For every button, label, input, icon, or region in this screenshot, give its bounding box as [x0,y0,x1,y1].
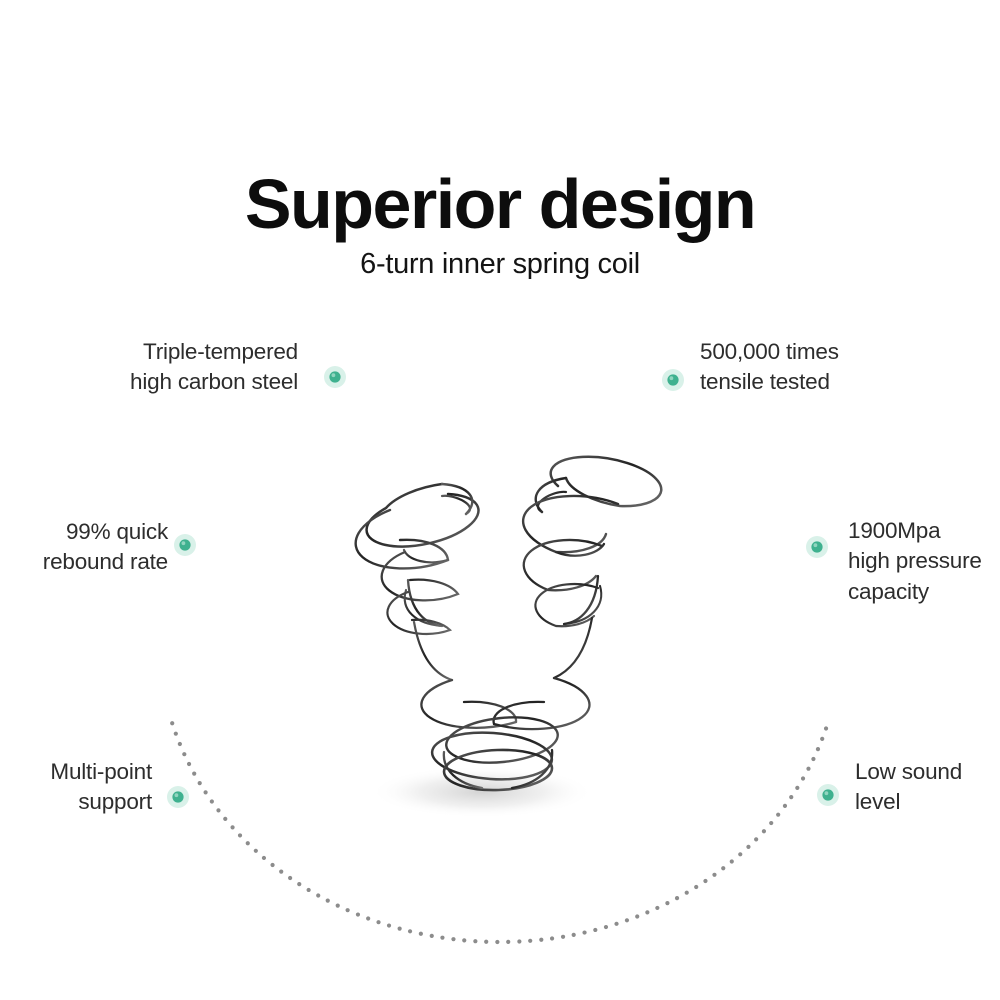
arc-dot [824,726,828,730]
pressure-capacity-marker[interactable] [806,536,828,558]
arc-dot [665,901,669,905]
arc-dot [178,742,182,746]
marker-highlight [175,793,179,797]
arc-dot [326,899,330,903]
arc-dot [170,721,174,725]
arc-dot [762,829,766,833]
arc-dot [238,833,242,837]
arc-dot [398,927,402,931]
arc-dot [288,876,292,880]
arc-dot [712,873,716,877]
arc-dot [506,940,510,944]
label-line: 500,000 times [700,337,960,367]
label-line: high pressure [848,546,998,576]
arc-dot [783,804,787,808]
arc-dot [174,732,178,736]
arc-dot [462,938,466,942]
arc-dot [495,940,499,944]
arc-dot [645,910,649,914]
arc-dot [316,893,320,897]
arc-dot [539,938,543,942]
label-line: Multi-point [0,757,152,787]
arc-dot [246,841,250,845]
marker-halo [324,366,346,388]
marker-highlight [332,373,336,377]
spring-left-coil [356,484,479,680]
marker-core [822,789,833,800]
arc-dot [746,845,750,849]
page-title: Superior design [0,168,1000,242]
arc-dot [484,940,488,944]
arc-dot [198,781,202,785]
arc-dot [210,799,214,803]
marker-halo [167,786,189,808]
arc-dot [730,859,734,863]
arc-dot [297,882,301,886]
arc-dot [811,757,815,761]
marker-core [179,539,190,550]
infographic-canvas: Superior design 6-turn inner spring coil [0,0,1000,1000]
arc-dot [738,852,742,856]
arc-dot [801,776,805,780]
feature-label-low-sound-level: Low sound level [855,757,995,818]
rebound-rate-marker[interactable] [174,534,196,556]
arc-dot [703,879,707,883]
label-line: 1900Mpa [848,516,998,546]
arc-dot [182,752,186,756]
marker-highlight [814,543,818,547]
arc-dot [572,933,576,937]
triple-tempered-marker[interactable] [324,366,346,388]
marker-core [329,371,340,382]
feature-label-multi-point-support: Multi-point support [0,757,152,818]
label-line: 99% quick [0,517,168,547]
tensile-tested-marker[interactable] [662,369,684,391]
feature-label-pressure-capacity: 1900Mpa high pressure capacity [848,516,998,607]
label-line: rebound rate [0,547,168,577]
arc-dot [451,937,455,941]
arc-dot [408,929,412,933]
label-line: high carbon steel [40,367,298,397]
arc-dot [675,896,679,900]
low-sound-level-marker[interactable] [817,784,839,806]
arc-dot [582,930,586,934]
arc-dot [789,795,793,799]
label-line: Low sound [855,757,995,787]
arc-dot [204,790,208,794]
arc-dot [187,762,191,766]
marker-core [811,541,822,552]
marker-halo [662,369,684,391]
label-line: capacity [848,577,998,607]
marker-halo [817,784,839,806]
arc-dot [820,737,824,741]
label-line: Triple-tempered [40,337,298,367]
marker-halo [806,536,828,558]
arc-dot [279,870,283,874]
arc-dot [376,920,380,924]
feature-label-rebound-rate: 99% quick rebound rate [0,517,168,578]
arc-dot [473,939,477,943]
spring-coil-image [330,440,670,830]
arc-dot [262,856,266,860]
arc-dot [614,922,618,926]
label-line: tensile tested [700,367,960,397]
arc-dot [655,906,659,910]
arc-dot [561,935,565,939]
arc-dot [254,849,258,853]
marker-highlight [670,376,674,380]
arc-dot [230,825,234,829]
marker-highlight [825,791,829,795]
label-line: level [855,787,995,817]
arc-dot [795,786,799,790]
arc-dot [366,916,370,920]
label-line: support [0,787,152,817]
marker-core [172,791,183,802]
arc-dot [816,747,820,751]
arc-dot [216,808,220,812]
arc-dot [430,934,434,938]
arc-dot [635,914,639,918]
arc-dot [336,904,340,908]
arc-dot [192,772,196,776]
multi-point-support-marker[interactable] [167,786,189,808]
page-subtitle: 6-turn inner spring coil [0,247,1000,282]
spring-coil-drawing [330,440,670,830]
arc-dot [593,928,597,932]
arc-dot [528,939,532,943]
arc-dot [721,866,725,870]
arc-dot [550,936,554,940]
arc-dot [517,939,521,943]
arc-dot [419,932,423,936]
feature-label-tensile-tested: 500,000 times tensile tested [700,337,960,398]
arc-dot [307,888,311,892]
marker-core [667,374,678,385]
arc-dot [776,813,780,817]
arc-dot [604,925,608,929]
marker-halo [174,534,196,556]
feature-label-triple-tempered: Triple-tempered high carbon steel [40,337,298,398]
arc-dot [440,936,444,940]
arc-dot [223,817,227,821]
arc-dot [356,912,360,916]
arc-dot [625,918,629,922]
arc-dot [694,885,698,889]
spring-right-coil [523,457,661,678]
marker-highlight [182,541,186,545]
spring-shadow [370,766,594,818]
arc-dot [387,923,391,927]
arc-dot [270,863,274,867]
arc-dot [806,767,810,771]
arc-dot [754,837,758,841]
arc-dot [769,821,773,825]
arc-dot [685,891,689,895]
arc-dot [346,908,350,912]
